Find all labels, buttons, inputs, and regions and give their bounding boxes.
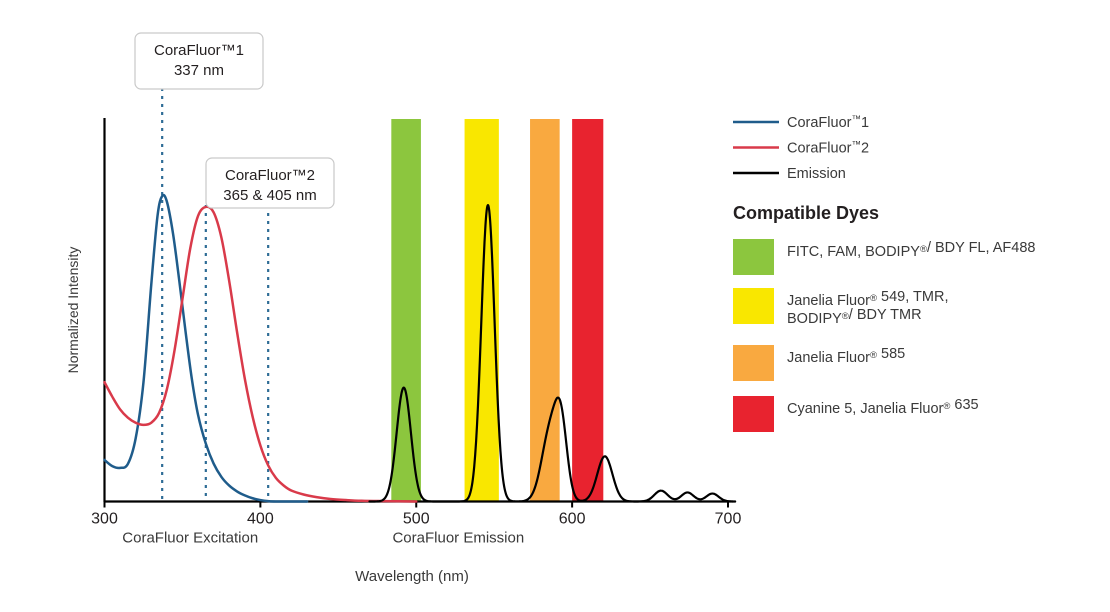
plot-bands: [391, 119, 603, 502]
x-tick-label-400: 400: [247, 511, 274, 528]
x-axis-title: Wavelength (nm): [355, 568, 469, 585]
section-label-corafluorexcitation: CoraFluor Excitation: [122, 530, 258, 547]
axis-ticks: 300400500600700: [91, 502, 741, 528]
x-tick-label-600: 600: [559, 511, 586, 528]
curve-corafluor2: [105, 207, 417, 502]
dye-label-2-line0: Janelia Fluor® 585: [787, 346, 905, 366]
y-axis-title: Normalized Intensity: [65, 247, 81, 374]
corafluor1-callout-line2: 337 nm: [174, 62, 224, 79]
red-band: [572, 119, 603, 502]
x-tick-label-700: 700: [715, 511, 742, 528]
legend-label-0: CoraFluor™1: [787, 114, 869, 131]
compatible-dyes-heading: Compatible Dyes: [733, 203, 879, 223]
dye-label-0-line0: FITC, FAM, BODIPY®/ BDY FL, AF488: [787, 240, 1035, 260]
legend-label-1: CoraFluor™2: [787, 140, 869, 157]
section-labels-group: CoraFluor ExcitationCoraFluor Emission: [122, 530, 524, 547]
dye-swatch-0: [733, 239, 774, 275]
excitation-markers: [162, 88, 268, 502]
dye-label-1-line0: Janelia Fluor® 549, TMR,: [787, 289, 948, 309]
x-tick-label-300: 300: [91, 511, 118, 528]
dye-swatch-2: [733, 345, 774, 381]
spectra-chart-figure: 300400500600700 CoraFluor™1337 nmCoraFlu…: [0, 0, 1110, 612]
section-label-corafluoremission: CoraFluor Emission: [392, 530, 524, 547]
corafluor1-callout-line1: CoraFluor™1: [154, 42, 244, 59]
chart-legend: CoraFluor™1CoraFluor™2EmissionCompatible…: [733, 114, 1035, 432]
dye-swatch-3: [733, 396, 774, 432]
callouts-group: CoraFluor™1337 nmCoraFluor™2365 & 405 nm: [135, 33, 334, 208]
dye-swatch-1: [733, 288, 774, 324]
x-tick-label-500: 500: [403, 511, 430, 528]
corafluor2-callout-line2: 365 & 405 nm: [223, 187, 316, 204]
legend-label-2: Emission: [787, 166, 846, 182]
dye-label-1-line1: BODIPY®/ BDY TMR: [787, 307, 922, 327]
corafluor2-callout-line1: CoraFluor™2: [225, 167, 315, 184]
dye-label-3-line0: Cyanine 5, Janelia Fluor® 635: [787, 397, 979, 417]
